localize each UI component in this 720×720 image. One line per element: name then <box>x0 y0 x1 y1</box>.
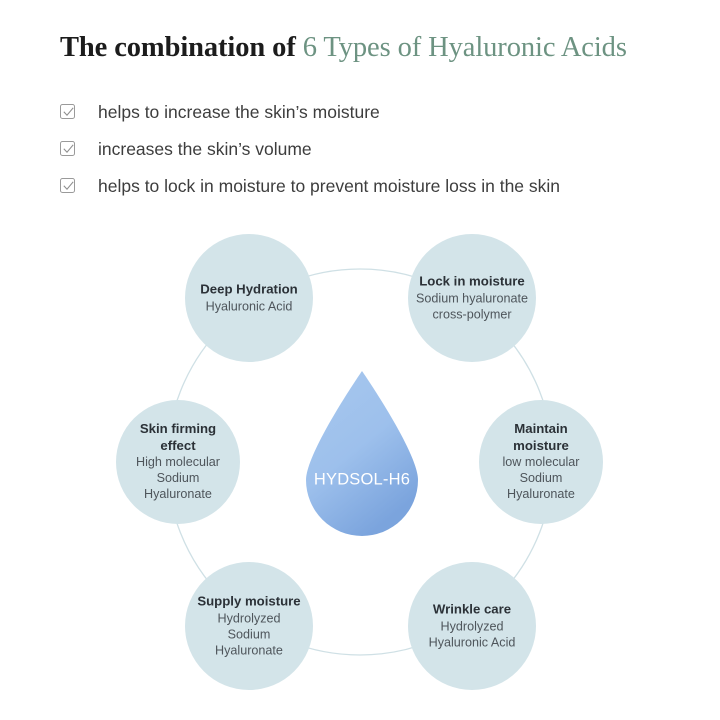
diagram-canvas <box>0 222 720 702</box>
node-circle-skin-firming-effect[interactable] <box>116 400 240 524</box>
node-circle-wrinkle-care[interactable] <box>408 562 536 690</box>
node-circle-supply-moisture[interactable] <box>185 562 313 690</box>
checkbox-check-icon <box>60 178 75 193</box>
benefit-label: increases the skin’s volume <box>98 139 312 159</box>
hyaluronic-acid-diagram: Deep Hydration Hyaluronic Acid Lock in m… <box>0 222 720 702</box>
page-title-lead: The combination of <box>60 32 303 63</box>
water-droplet-icon <box>306 371 418 536</box>
list-item: increases the skin’s volume <box>60 130 680 167</box>
page-title: The combination of 6 Types of Hyaluronic… <box>60 31 627 65</box>
checkbox-check-icon <box>60 104 75 119</box>
node-circle-maintain-moisture[interactable] <box>479 400 603 524</box>
benefits-list: helps to increase the skin’s moisture in… <box>60 93 680 204</box>
benefit-label: helps to increase the skin’s moisture <box>98 102 380 122</box>
checkbox-check-icon <box>60 141 75 156</box>
benefit-label: helps to lock in moisture to prevent moi… <box>98 176 560 196</box>
node-circle-lock-in-moisture[interactable] <box>408 234 536 362</box>
node-circle-deep-hydration[interactable] <box>185 234 313 362</box>
list-item: helps to lock in moisture to prevent moi… <box>60 167 680 204</box>
list-item: helps to increase the skin’s moisture <box>60 93 680 130</box>
page-title-accent: 6 Types of Hyaluronic Acids <box>303 32 627 63</box>
